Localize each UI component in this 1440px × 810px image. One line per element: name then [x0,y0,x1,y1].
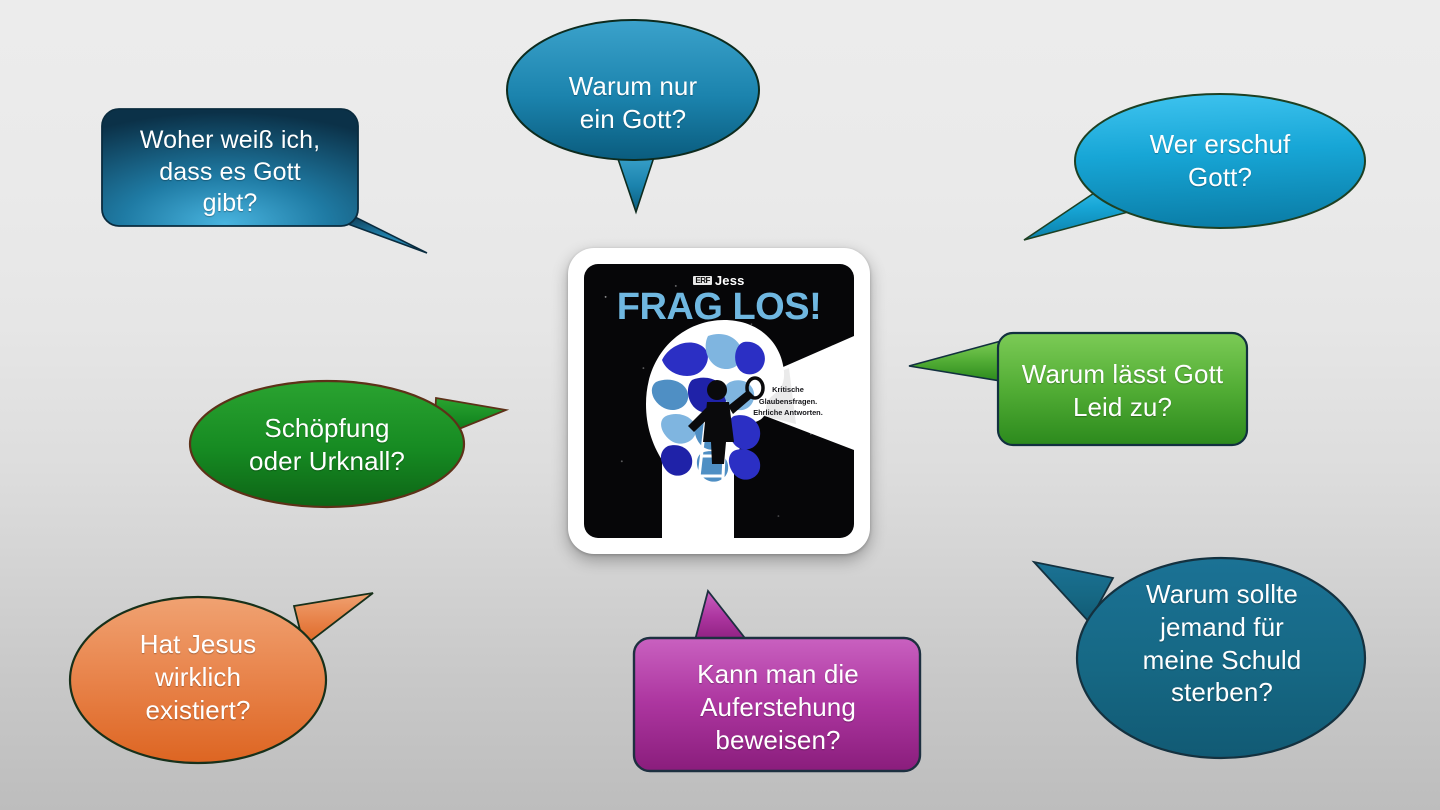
speech-bubble-hat-jesus-wirklich-existiert[interactable]: Hat Jesus wirklich existiert? [68,588,378,768]
bubble-body-schuld [1077,558,1365,758]
bubble-body-warum-nur [507,20,759,160]
erf-logo-mark: ERF [693,276,712,285]
speech-bubble-schoepfung-oder-urknall[interactable]: Schöpfung oder Urknall? [188,376,508,516]
speech-bubble-warum-laesst-gott-leid-zu[interactable]: Warum lässt Gott Leid zu? [905,325,1250,450]
slide-canvas: Woher weiß ich, dass es Gott gibt? Warum… [0,0,1440,810]
podcast-cover-art: ERFJess FRAG LOS! Kritische Glaubensfrag… [584,264,854,538]
speech-bubble-kann-man-die-auferstehung-beweisen[interactable]: Kann man die Auferstehung beweisen? [632,586,924,774]
cover-title: FRAG LOS! [584,286,854,329]
speech-bubble-wer-erschuf-gott[interactable]: Wer erschuf Gott? [1023,88,1368,248]
bubble-body-schoepfung [190,381,464,507]
bubble-body-jesus [70,597,326,763]
bubble-tail-warum-nur [617,154,655,212]
cover-tagline: Kritische Glaubensfragen. Ehrliche Antwo… [733,384,843,419]
bubble-body-auferstehung [634,638,920,771]
bubble-tail-auferstehung [694,591,748,644]
bubble-tail-leid [909,341,1001,381]
speech-bubble-woher-weiss-ich[interactable]: Woher weiß ich, dass es Gott gibt? [101,108,431,258]
speech-bubble-warum-nur-ein-gott[interactable]: Warum nur ein Gott? [505,16,767,216]
bubble-body-leid [998,333,1247,445]
bubble-body-woher [102,109,358,226]
speech-bubble-warum-sollte-jemand-sterben[interactable]: Warum sollte jemand für meine Schuld ste… [1020,550,1368,770]
bubble-body-wer-erschuf [1075,94,1365,228]
podcast-cover-card[interactable]: ERFJess FRAG LOS! Kritische Glaubensfrag… [568,248,870,554]
